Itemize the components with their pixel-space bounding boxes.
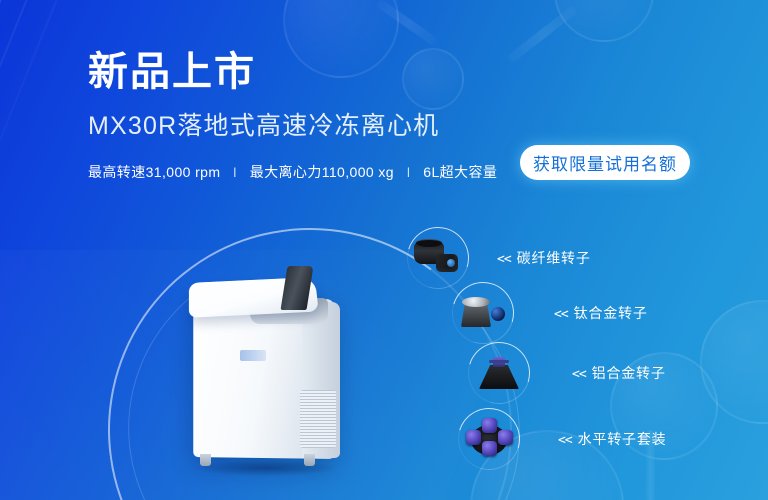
light-streak <box>0 0 98 500</box>
chevron-left-icon: << <box>558 433 572 448</box>
centrifuge-foot <box>304 454 315 466</box>
centrifuge-vent-grille <box>300 390 336 448</box>
rotor-callout-aluminum[interactable]: <<铝合金转子 <box>468 342 666 404</box>
get-trial-quota-button[interactable]: 获取限量试用名额 <box>520 145 690 180</box>
rotor-ring-decoration <box>468 342 530 404</box>
rotor-callout-titanium[interactable]: <<钛合金转子 <box>452 282 648 344</box>
rotor-label-carbon-fiber[interactable]: <<碳纤维转子 <box>497 248 591 268</box>
lab-flask-icon <box>402 48 464 110</box>
rotor-callout-carbon-fiber[interactable]: <<碳纤维转子 <box>407 227 591 289</box>
swing-out-rotor-set-icon <box>465 419 513 459</box>
light-streak <box>0 0 68 500</box>
carbon-fiber-rotor-icon <box>414 238 462 278</box>
page-title: 新品上市 <box>88 52 256 92</box>
titanium-alloy-rotor-icon <box>459 293 507 333</box>
lab-flask-neck <box>376 0 439 46</box>
spec-item-speed: 最高转速31,000 rpm <box>88 162 220 182</box>
lab-flask-icon <box>554 0 654 42</box>
aluminum-alloy-rotor-icon <box>475 353 523 393</box>
chevron-left-icon: << <box>497 252 511 267</box>
rotor-label-text: 碳纤维转子 <box>517 250 591 266</box>
rotor-label-titanium[interactable]: <<钛合金转子 <box>554 303 648 323</box>
rotor-ring-decoration <box>452 282 514 344</box>
rotor-label-aluminum[interactable]: <<铝合金转子 <box>572 363 666 383</box>
promo-banner: 新品上市 MX30R落地式高速冷冻离心机 最高转速31,000 rpm l 最大… <box>0 0 768 500</box>
spec-item-capacity: 6L超大容量 <box>423 162 497 182</box>
rotor-label-text: 铝合金转子 <box>592 365 666 381</box>
spec-separator: l <box>407 165 410 180</box>
chevron-left-icon: << <box>554 307 568 322</box>
centrifuge-icon <box>192 272 340 472</box>
rotor-label-text: 钛合金转子 <box>574 305 648 321</box>
rotor-ring-decoration <box>407 227 469 289</box>
rotor-label-swing-out[interactable]: <<水平转子套装 <box>558 429 666 449</box>
spec-item-force: 最大离心力110,000 xg <box>250 162 394 182</box>
rotor-ring-decoration <box>458 408 520 470</box>
product-subtitle: MX30R落地式高速冷冻离心机 <box>88 113 439 141</box>
brand-logo <box>240 350 266 361</box>
lab-flask-icon <box>283 0 399 78</box>
product-shadow <box>196 460 336 476</box>
light-streak <box>0 0 42 500</box>
rotor-label-text: 水平转子套装 <box>578 431 667 447</box>
chevron-left-icon: << <box>572 367 586 382</box>
spec-separator: l <box>233 165 236 180</box>
lab-flask-icon <box>700 300 768 424</box>
rotor-callout-swing-out[interactable]: <<水平转子套装 <box>458 408 666 470</box>
lab-flask-neck <box>506 5 578 64</box>
spec-list: 最高转速31,000 rpm l 最大离心力110,000 xg l 6L超大容… <box>88 162 497 182</box>
centrifuge-foot <box>200 454 211 466</box>
